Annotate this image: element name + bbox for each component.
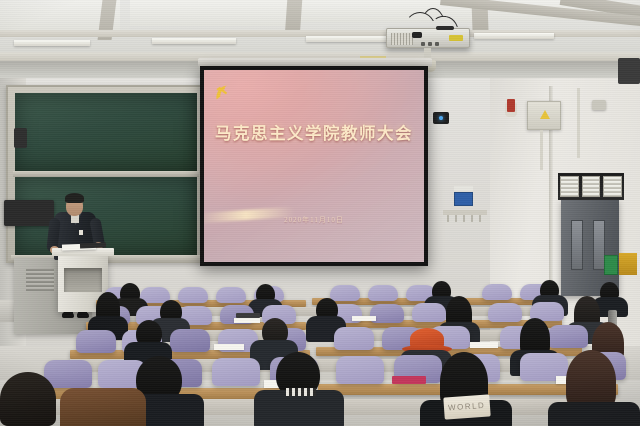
presentation-slide: 马克思主义学院教师大会 2020年11月10日 xyxy=(204,70,424,262)
blue-wall-sign xyxy=(454,192,473,206)
status-led xyxy=(439,116,443,120)
lecture-hall-photo: 马克思主义学院教师大会 2020年11月10日 xyxy=(0,0,640,426)
wall-notice xyxy=(619,253,637,275)
av-receiver-box[interactable] xyxy=(433,112,449,124)
wall-conduit xyxy=(540,130,543,170)
attendee-brown-coat xyxy=(60,388,146,426)
vent-grille xyxy=(603,176,622,197)
projector-label xyxy=(449,35,463,41)
projection-screen: 马克思主义学院教师大会 2020年11月10日 xyxy=(200,66,428,266)
slide-sheen xyxy=(204,70,424,262)
ceiling-light xyxy=(152,38,236,44)
attendee-body xyxy=(548,402,640,426)
fire-alarm xyxy=(507,99,515,112)
exit-sign xyxy=(604,255,618,275)
sign-header xyxy=(454,186,473,191)
corner-speaker xyxy=(618,58,640,84)
speaker-hair xyxy=(65,193,84,203)
vent-grille xyxy=(560,176,579,197)
desk-paper xyxy=(214,344,244,350)
ceiling-light xyxy=(14,40,90,46)
warning-triangle-icon xyxy=(540,110,550,119)
desk-paper xyxy=(234,318,260,323)
podium-shelf xyxy=(64,268,102,292)
projector-vent-grill xyxy=(391,33,413,45)
hook-rail xyxy=(443,210,487,215)
cabinet-vent xyxy=(26,269,54,291)
wall-sensor xyxy=(14,128,27,148)
speaker-badge xyxy=(79,230,83,235)
podium-device xyxy=(80,243,106,249)
striped-collar xyxy=(286,388,316,396)
ceiling-light xyxy=(306,36,390,42)
wall-speaker xyxy=(4,200,54,226)
desk-notebook xyxy=(392,376,426,384)
air-vent-grilles xyxy=(558,173,624,200)
desk-paper xyxy=(470,342,498,348)
chalkboard xyxy=(6,85,206,263)
electrical-warning-box xyxy=(527,101,561,130)
desk-paper xyxy=(352,316,376,321)
slide-date: 2020年11月10日 xyxy=(204,215,424,225)
chalkboard-panel-upper xyxy=(15,93,197,171)
security-camera xyxy=(592,100,606,110)
wall-conduit xyxy=(577,88,580,158)
vent-grille xyxy=(582,176,601,197)
slide-title: 马克思主义学院教师大会 xyxy=(204,120,424,144)
cpc-hammer-sickle-emblem xyxy=(212,82,234,104)
ceiling-light xyxy=(474,33,554,39)
attendee-head xyxy=(0,372,56,426)
